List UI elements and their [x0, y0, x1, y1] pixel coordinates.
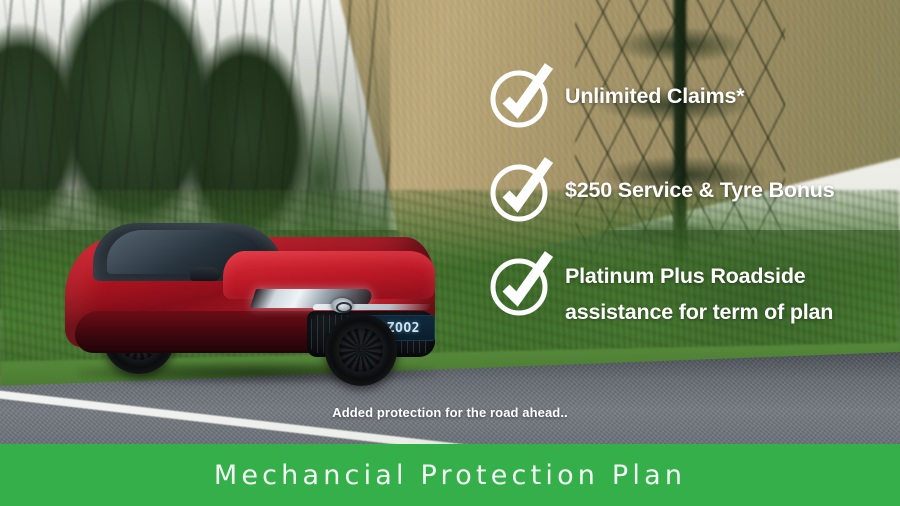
- check-circle-icon: [487, 247, 559, 319]
- side-mirror: [190, 267, 220, 281]
- mechanical-protection-plan-banner: GAZOO2 Unlimited Claims* $250 Service & …: [0, 0, 900, 506]
- feature-label: Unlimited Claims*: [565, 64, 744, 114]
- feature-label-line1: Platinum Plus Roadside: [565, 264, 806, 288]
- feature-label-multiline: Platinum Plus Roadside assistance for te…: [565, 252, 833, 330]
- footer-banner: Mechancial Protection Plan: [0, 444, 900, 506]
- check-circle-icon: [487, 153, 559, 225]
- car-photo-subject: GAZOO2: [55, 215, 450, 380]
- feature-list: Unlimited Claims* $250 Service & Tyre Bo…: [487, 64, 887, 330]
- feature-item-service-tyre-bonus: $250 Service & Tyre Bonus: [487, 158, 887, 225]
- check-circle-icon: [487, 59, 559, 131]
- footer-banner-title: Mechancial Protection Plan: [214, 460, 686, 491]
- feature-item-unlimited-claims: Unlimited Claims*: [487, 64, 887, 131]
- feature-label-line2: assistance for term of plan: [565, 300, 833, 324]
- tagline-text: Added protection for the road ahead..: [0, 405, 900, 420]
- toyota-emblem-icon: [331, 298, 353, 313]
- feature-label: $250 Service & Tyre Bonus: [565, 158, 834, 208]
- front-wheel: [325, 314, 397, 386]
- feature-item-platinum-plus-roadside: Platinum Plus Roadside assistance for te…: [487, 252, 887, 330]
